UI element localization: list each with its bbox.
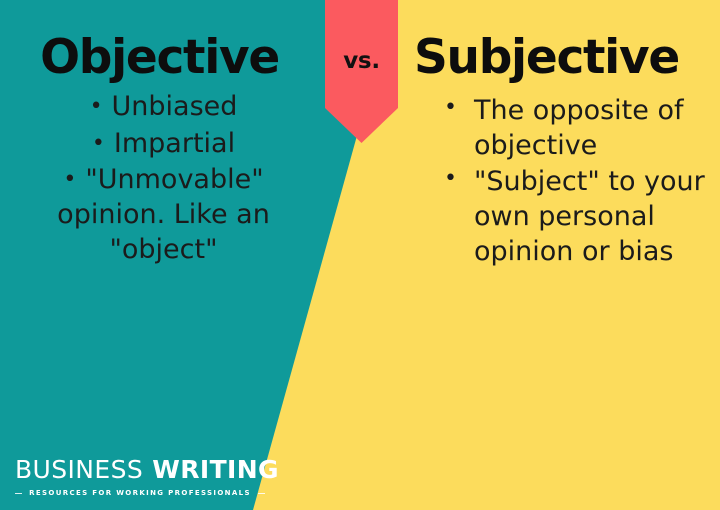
tagline-rule-left — [15, 493, 22, 494]
list-item: •"Subject" to your own personal opinion … — [444, 165, 715, 269]
bullet-dot-icon: • — [444, 94, 457, 122]
objective-bullet-list: •Unbiased •Impartial •"Unmovable" opinio… — [0, 90, 325, 267]
logo-word-one: BUSINESS — [15, 455, 143, 484]
subjective-heading: Subjective — [400, 33, 715, 82]
vs-label: vs. — [325, 50, 398, 73]
list-item-label: "Subject" to your own personal opinion o… — [474, 166, 705, 266]
logo-wordmark: BUSINESS WRITING — [15, 457, 265, 482]
tagline-rule-right — [258, 493, 265, 494]
list-item-label: Unbiased — [112, 91, 238, 122]
bullet-dot-icon: • — [444, 165, 457, 193]
subjective-column: Subjective •The opposite of objective •"… — [400, 0, 715, 271]
objective-heading: Objective — [0, 33, 325, 82]
bullet-dot-icon: • — [90, 93, 103, 121]
list-item: •The opposite of objective — [444, 94, 715, 163]
business-writing-logo[interactable]: BUSINESS WRITING RESOURCES FOR WORKING P… — [15, 457, 265, 497]
logo-tagline: RESOURCES FOR WORKING PROFESSIONALS — [29, 489, 251, 497]
list-item: •Unbiased — [16, 90, 311, 125]
bullet-dot-icon: • — [92, 130, 105, 158]
objective-column: Objective •Unbiased •Impartial •"Unmovab… — [0, 0, 325, 269]
subjective-bullet-list: •The opposite of objective •"Subject" to… — [400, 94, 715, 269]
list-item-label: The opposite of objective — [474, 95, 684, 161]
list-item-label: "Unmovable" opinion. Like an "object" — [57, 164, 270, 264]
logo-word-two: WRITING — [152, 455, 279, 484]
list-item: •"Unmovable" opinion. Like an "object" — [16, 163, 311, 267]
list-item: •Impartial — [16, 127, 311, 162]
infographic-canvas: vs. Objective •Unbiased •Impartial •"Unm… — [0, 0, 720, 510]
bullet-dot-icon: • — [63, 166, 76, 194]
logo-tagline-row: RESOURCES FOR WORKING PROFESSIONALS — [15, 489, 265, 497]
list-item-label: Impartial — [114, 128, 235, 159]
